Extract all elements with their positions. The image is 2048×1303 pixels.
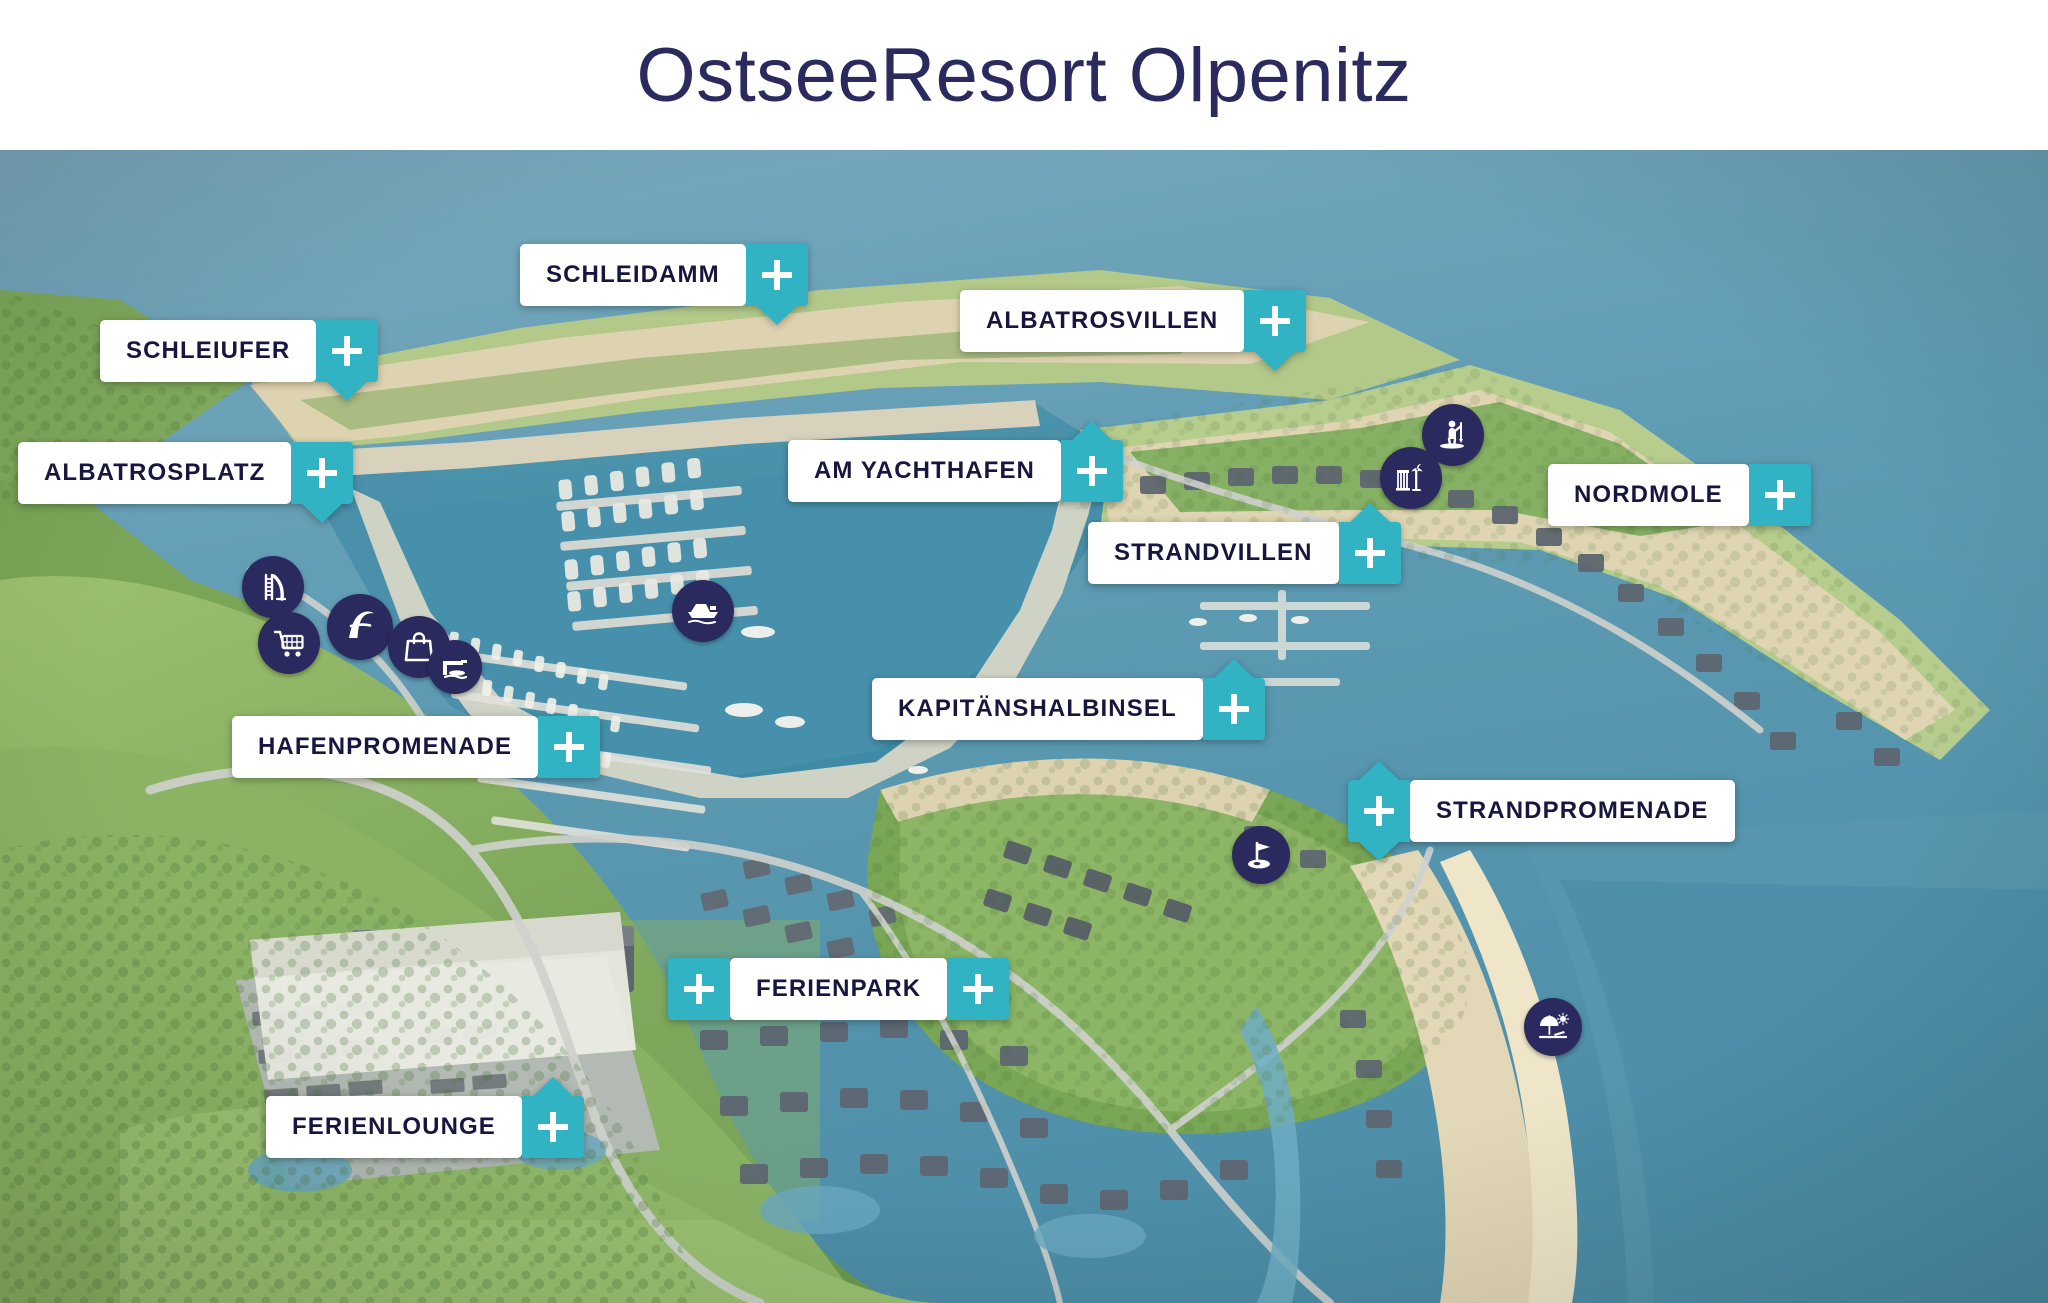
expand-button-ferienpark-right[interactable] — [947, 958, 1009, 1020]
resort-map[interactable]: SCHLEIDAMM SCHLEIUFER ALBATROSVILLEN A — [0, 150, 2048, 1303]
pointer-triangle — [1213, 659, 1255, 679]
expand-button-strandvillen[interactable] — [1339, 522, 1401, 584]
map-label-schleidamm[interactable]: SCHLEIDAMM — [520, 244, 808, 306]
map-label-text: HAFENPROMENADE — [232, 716, 538, 778]
expand-button-ferienpark-left[interactable] — [668, 958, 730, 1020]
map-label-text: FERIENPARK — [730, 958, 947, 1020]
plus-icon — [1219, 694, 1249, 724]
map-label-text: STRANDVILLEN — [1088, 522, 1339, 584]
pointer-triangle — [326, 381, 368, 401]
expand-button-schleidamm[interactable] — [746, 244, 808, 306]
page-title: OstseeResort Olpenitz — [636, 32, 1411, 119]
pointer-triangle — [1254, 351, 1296, 371]
pointer-triangle — [532, 1077, 574, 1097]
map-label-ferienpark[interactable]: FERIENPARK — [668, 958, 1009, 1020]
expand-button-nordmole[interactable] — [1749, 464, 1811, 526]
paddleboarder-icon — [1435, 417, 1471, 453]
map-label-text: STRANDPROMENADE — [1410, 780, 1735, 842]
beach-umbrella-icon — [1536, 1010, 1570, 1044]
plus-icon — [963, 974, 993, 1004]
plus-icon — [1364, 796, 1394, 826]
lighthouse-icon — [1393, 460, 1429, 496]
poi-lighthouse[interactable] — [1380, 447, 1442, 509]
map-label-strandvillen[interactable]: STRANDVILLEN — [1088, 522, 1401, 584]
golf-flag-icon — [1244, 838, 1278, 872]
poi-ferien-logo[interactable] — [327, 594, 393, 660]
poi-golf[interactable] — [1232, 826, 1290, 884]
map-label-text: SCHLEIDAMM — [520, 244, 746, 306]
expand-button-schleiufer[interactable] — [316, 320, 378, 382]
expand-button-hafenpromenade[interactable] — [538, 716, 600, 778]
plus-icon — [1260, 306, 1290, 336]
expand-button-albatrosvillen[interactable] — [1244, 290, 1306, 352]
poi-shopping-cart[interactable] — [258, 612, 320, 674]
plus-icon — [684, 974, 714, 1004]
map-label-albatrosvillen[interactable]: ALBATROSVILLEN — [960, 290, 1306, 352]
plus-icon — [332, 336, 362, 366]
poi-beach[interactable] — [1524, 998, 1582, 1056]
plus-icon — [1077, 456, 1107, 486]
plus-icon — [307, 458, 337, 488]
expand-button-strandpromenade[interactable] — [1348, 780, 1410, 842]
pointer-triangle-up — [1358, 761, 1400, 781]
map-label-hafenpromenade[interactable]: HAFENPROMENADE — [232, 716, 600, 778]
ferien-f-logo-icon — [340, 607, 380, 647]
plus-icon — [762, 260, 792, 290]
boat-jetty-icon — [439, 651, 471, 683]
plus-icon — [1765, 480, 1795, 510]
plus-icon — [538, 1112, 568, 1142]
map-label-strandpromenade[interactable]: STRANDPROMENADE — [1348, 780, 1735, 842]
expand-button-ferienlounge[interactable] — [522, 1096, 584, 1158]
map-label-text: KAPITÄNSHALBINSEL — [872, 678, 1203, 740]
expand-button-albatrosplatz[interactable] — [291, 442, 353, 504]
map-label-nordmole[interactable]: NORDMOLE — [1548, 464, 1811, 526]
map-label-schleiufer[interactable]: SCHLEIUFER — [100, 320, 378, 382]
pointer-triangle-down — [1358, 841, 1400, 861]
plus-icon — [1355, 538, 1385, 568]
map-label-text: FERIENLOUNGE — [266, 1096, 522, 1158]
map-label-text: SCHLEIUFER — [100, 320, 316, 382]
expand-button-am-yachthafen[interactable] — [1061, 440, 1123, 502]
map-label-ferienlounge[interactable]: FERIENLOUNGE — [266, 1096, 584, 1158]
poi-water-slide[interactable] — [242, 556, 304, 618]
shopping-cart-icon — [271, 625, 307, 661]
water-slide-icon — [255, 569, 291, 605]
motorboat-icon — [684, 592, 722, 630]
pointer-triangle — [1071, 421, 1113, 441]
map-label-am-yachthafen[interactable]: AM YACHTHAFEN — [788, 440, 1123, 502]
plus-icon — [554, 732, 584, 762]
map-label-text: AM YACHTHAFEN — [788, 440, 1061, 502]
poi-motorboat[interactable] — [672, 580, 734, 642]
title-bar: OstseeResort Olpenitz — [0, 0, 2048, 150]
poi-jetty-boat[interactable] — [428, 640, 482, 694]
map-label-text: ALBATROSPLATZ — [18, 442, 291, 504]
pointer-triangle — [301, 503, 343, 523]
page-root: OstseeResort Olpenitz — [0, 0, 2048, 1303]
expand-button-kapitaenshalbinsel[interactable] — [1203, 678, 1265, 740]
map-label-kapitaenshalbinsel[interactable]: KAPITÄNSHALBINSEL — [872, 678, 1265, 740]
map-label-text: ALBATROSVILLEN — [960, 290, 1244, 352]
map-label-text: NORDMOLE — [1548, 464, 1749, 526]
pointer-triangle — [1349, 503, 1391, 523]
pointer-triangle — [756, 305, 798, 325]
map-label-albatrosplatz[interactable]: ALBATROSPLATZ — [18, 442, 353, 504]
